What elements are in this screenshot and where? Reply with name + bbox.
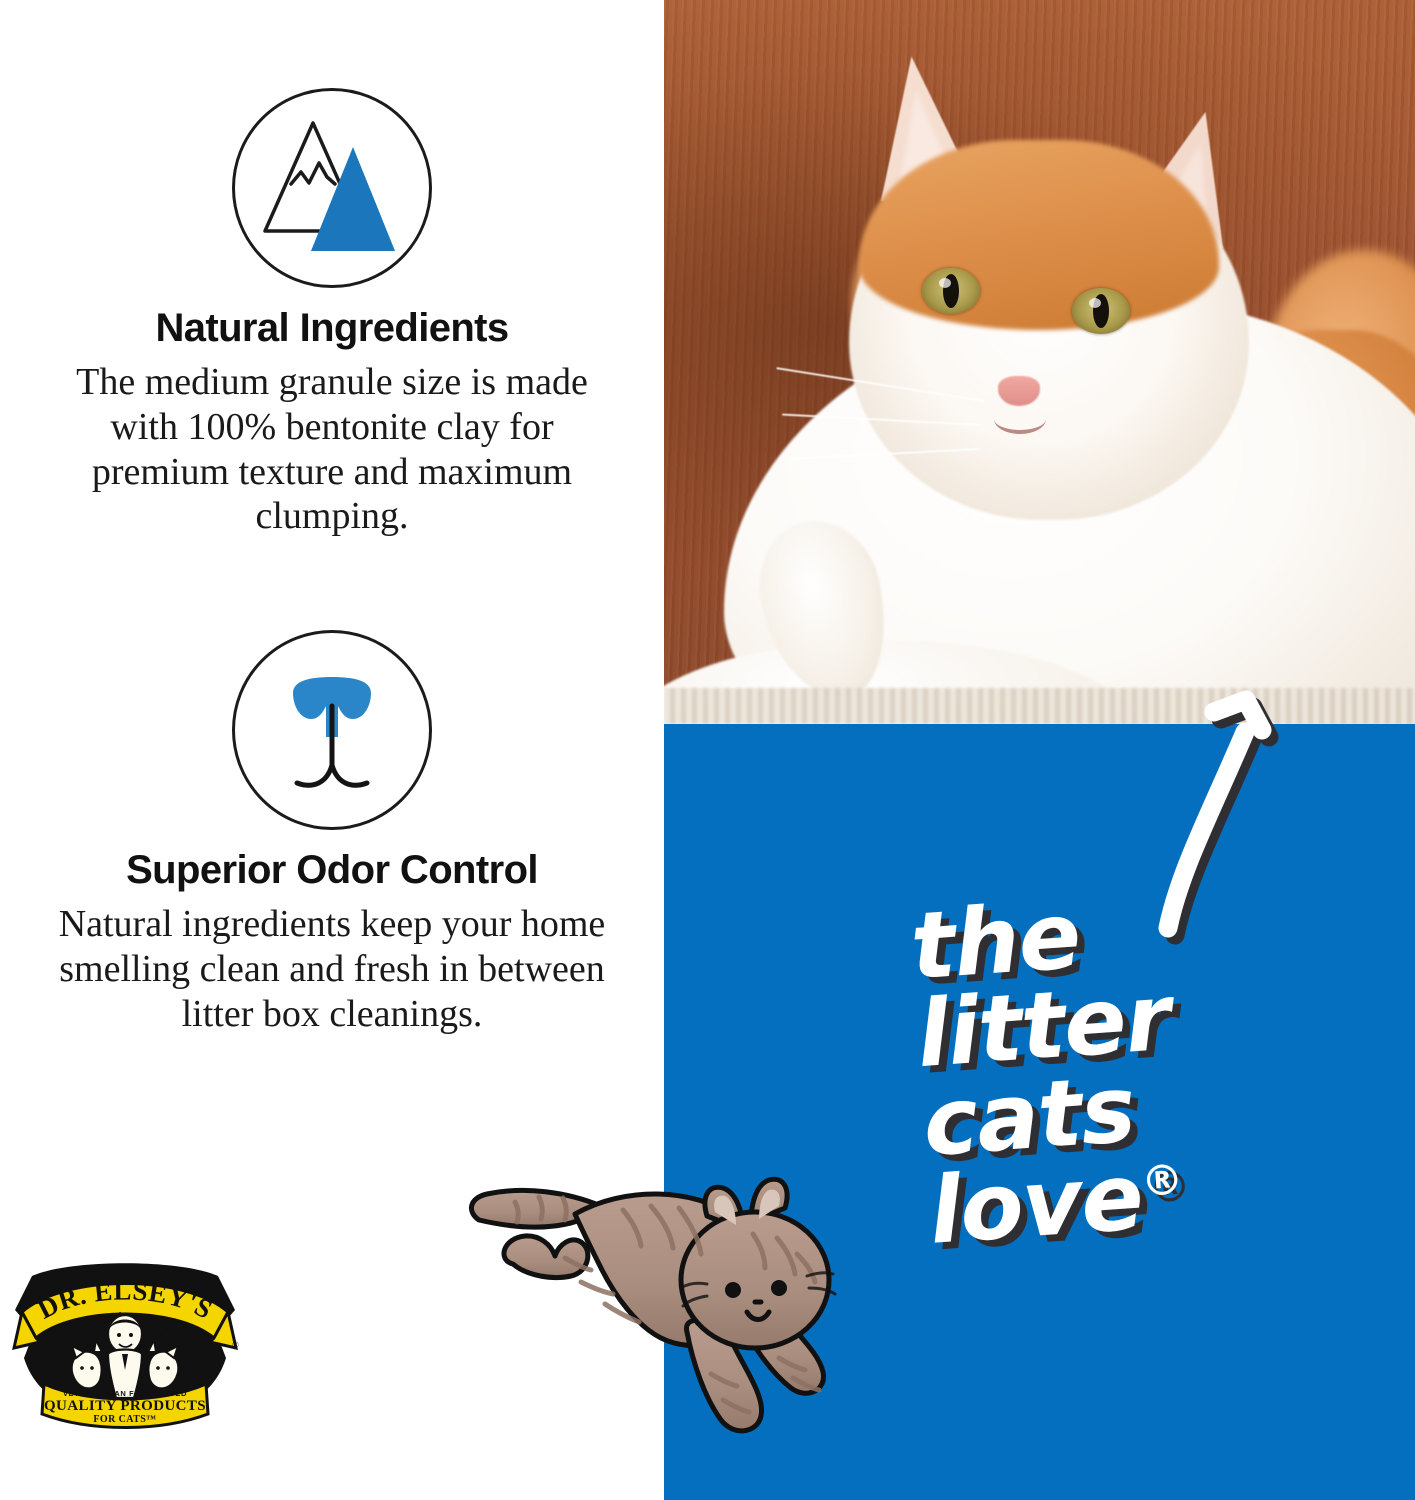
photo-cat-eye-left	[922, 268, 980, 314]
feature-body: The medium granule size is made with 100…	[42, 360, 622, 539]
mountain-icon-glyph	[235, 91, 429, 285]
dr-elseys-logo: DR. ELSEY'S ®	[10, 1262, 240, 1430]
feature-block-superior-odor-control: Superior Odor Control Natural ingredient…	[0, 630, 664, 1036]
cat-nose-icon-glyph	[235, 633, 429, 827]
leaping-cartoon-cat-glyph	[455, 1172, 860, 1457]
logo-registered-mark: ®	[232, 1340, 239, 1350]
cat-photo	[664, 0, 1415, 724]
feature-title: Superior Odor Control	[0, 848, 664, 892]
mountain-icon	[232, 88, 432, 288]
cat-nose-icon	[232, 630, 432, 830]
feature-title: Natural Ingredients	[0, 306, 664, 350]
product-feature-infographic: Natural Ingredients The medium granule s…	[0, 0, 1415, 1500]
dr-elseys-logo-glyph: DR. ELSEY'S ®	[10, 1262, 240, 1430]
photo-fur-edge	[664, 688, 1415, 724]
photo-cat-mouth	[994, 404, 1046, 434]
feature-block-natural-ingredients: Natural Ingredients The medium granule s…	[0, 88, 664, 539]
leaping-cartoon-cat	[455, 1172, 860, 1457]
tagline-script: the litter cats love®	[908, 877, 1312, 1256]
tagline-registered-mark: ®	[1140, 1155, 1185, 1207]
photo-cat-eye-right	[1072, 288, 1130, 334]
logo-sub-tail: FOR CATS™	[93, 1414, 156, 1425]
logo-sub-main: QUALITY PRODUCTS	[44, 1398, 206, 1414]
tagline-line-4-text: love	[926, 1143, 1146, 1265]
logo-sub-small: VETERINARIAN FORMULATED	[63, 1389, 187, 1398]
feature-body: Natural ingredients keep your home smell…	[42, 902, 622, 1036]
